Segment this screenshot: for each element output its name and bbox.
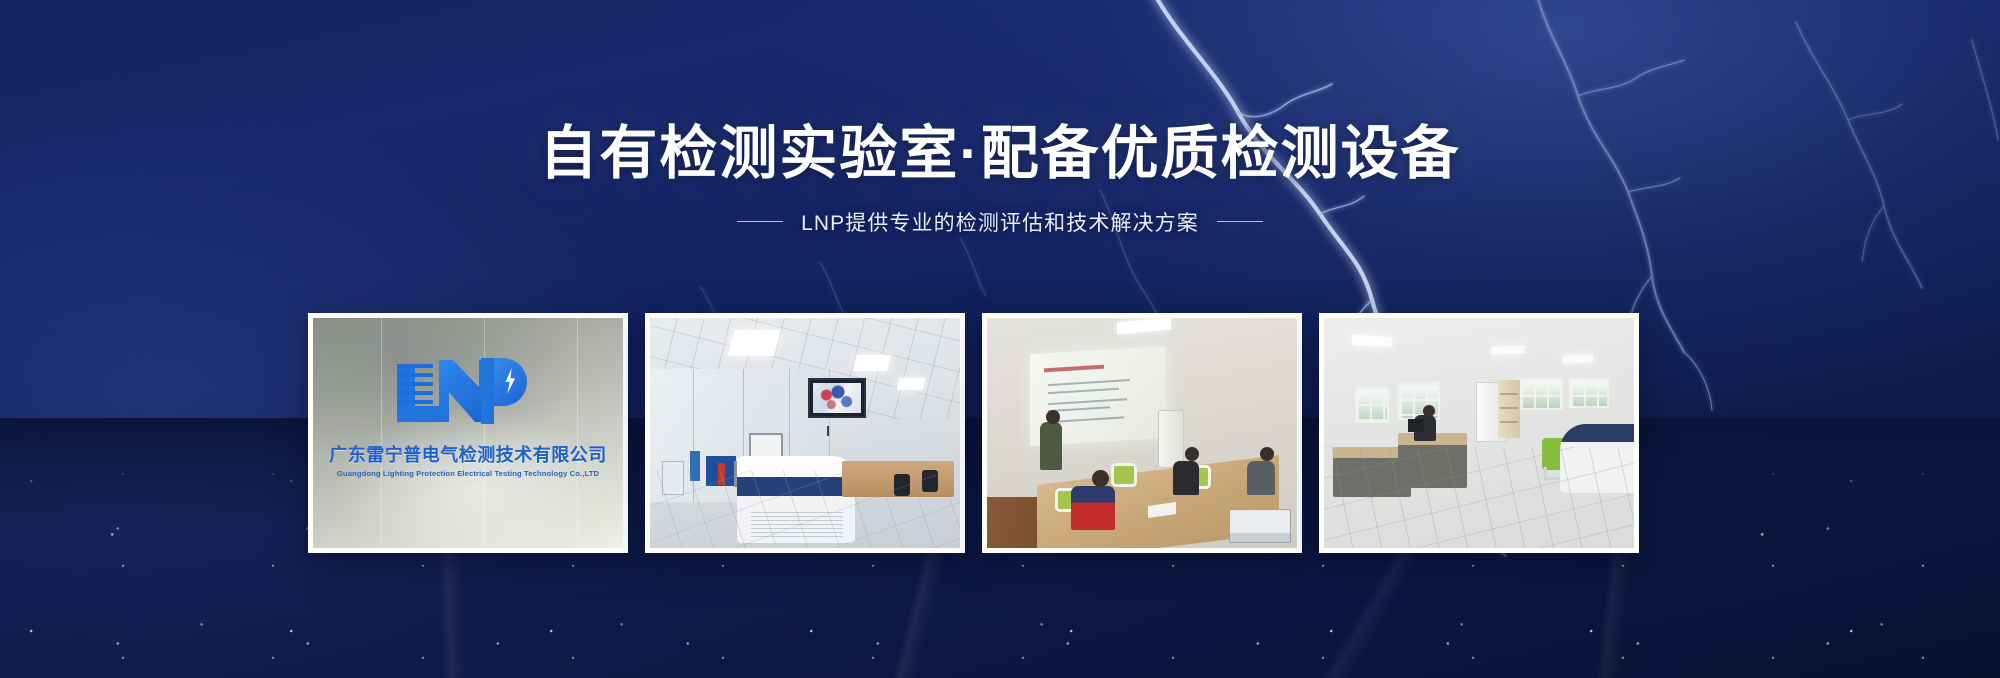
divider-rule-left: [737, 221, 783, 222]
photo-testing-laboratory: [650, 318, 960, 548]
banner-subtitle-row: LNP提供专业的检测评估和技术解决方案: [0, 207, 2000, 237]
presenter-figure: [1040, 422, 1062, 470]
office-bookshelf: [1498, 380, 1520, 438]
gallery-card-company-logo-sign[interactable]: 广东雷宁普电气检测技术有限公司 Guangdong Lighting Prote…: [308, 313, 628, 553]
laptop-device: [1229, 509, 1291, 543]
photo-office-area: [1324, 318, 1634, 548]
office-window: [1569, 378, 1609, 408]
gallery-card-office-area[interactable]: [1319, 313, 1639, 553]
attendee-figure: [1173, 461, 1199, 495]
office-window: [1519, 378, 1563, 410]
company-name-cn: 广东雷宁普电气检测技术有限公司: [313, 441, 623, 467]
company-name-en: Guangdong Lighting Protection Electrical…: [313, 469, 623, 478]
lab-wall-monitor: [808, 378, 866, 418]
office-window: [1355, 387, 1389, 423]
lab-floor: [650, 470, 960, 548]
banner-section: 自有检测实验室·配备优质检测设备 LNP提供专业的检测评估和技术解决方案: [0, 0, 2000, 678]
photo-meeting-room-training: [987, 318, 1297, 548]
banner-headline: 自有检测实验室·配备优质检测设备: [0, 124, 2000, 185]
attendee-figure: [1247, 461, 1275, 495]
photo-gallery: 广东雷宁普电气检测技术有限公司 Guangdong Lighting Prote…: [308, 313, 1639, 553]
office-floor: [1324, 447, 1634, 548]
lnp-logo-icon: [393, 356, 543, 430]
logo-lockup: 广东雷宁普电气检测技术有限公司 Guangdong Lighting Prote…: [313, 356, 623, 478]
attendee-figure: [1071, 486, 1115, 530]
banner-subtitle: LNP提供专业的检测评估和技术解决方案: [801, 207, 1199, 237]
gallery-card-testing-laboratory[interactable]: [645, 313, 965, 553]
photo-company-logo-sign: 广东雷宁普电气检测技术有限公司 Guangdong Lighting Prote…: [313, 318, 623, 548]
air-conditioner: [1158, 410, 1184, 468]
gallery-card-meeting-room-training[interactable]: [982, 313, 1302, 553]
banner-text-block: 自有检测实验室·配备优质检测设备 LNP提供专业的检测评估和技术解决方案: [0, 124, 2000, 237]
divider-rule-right: [1217, 221, 1263, 222]
